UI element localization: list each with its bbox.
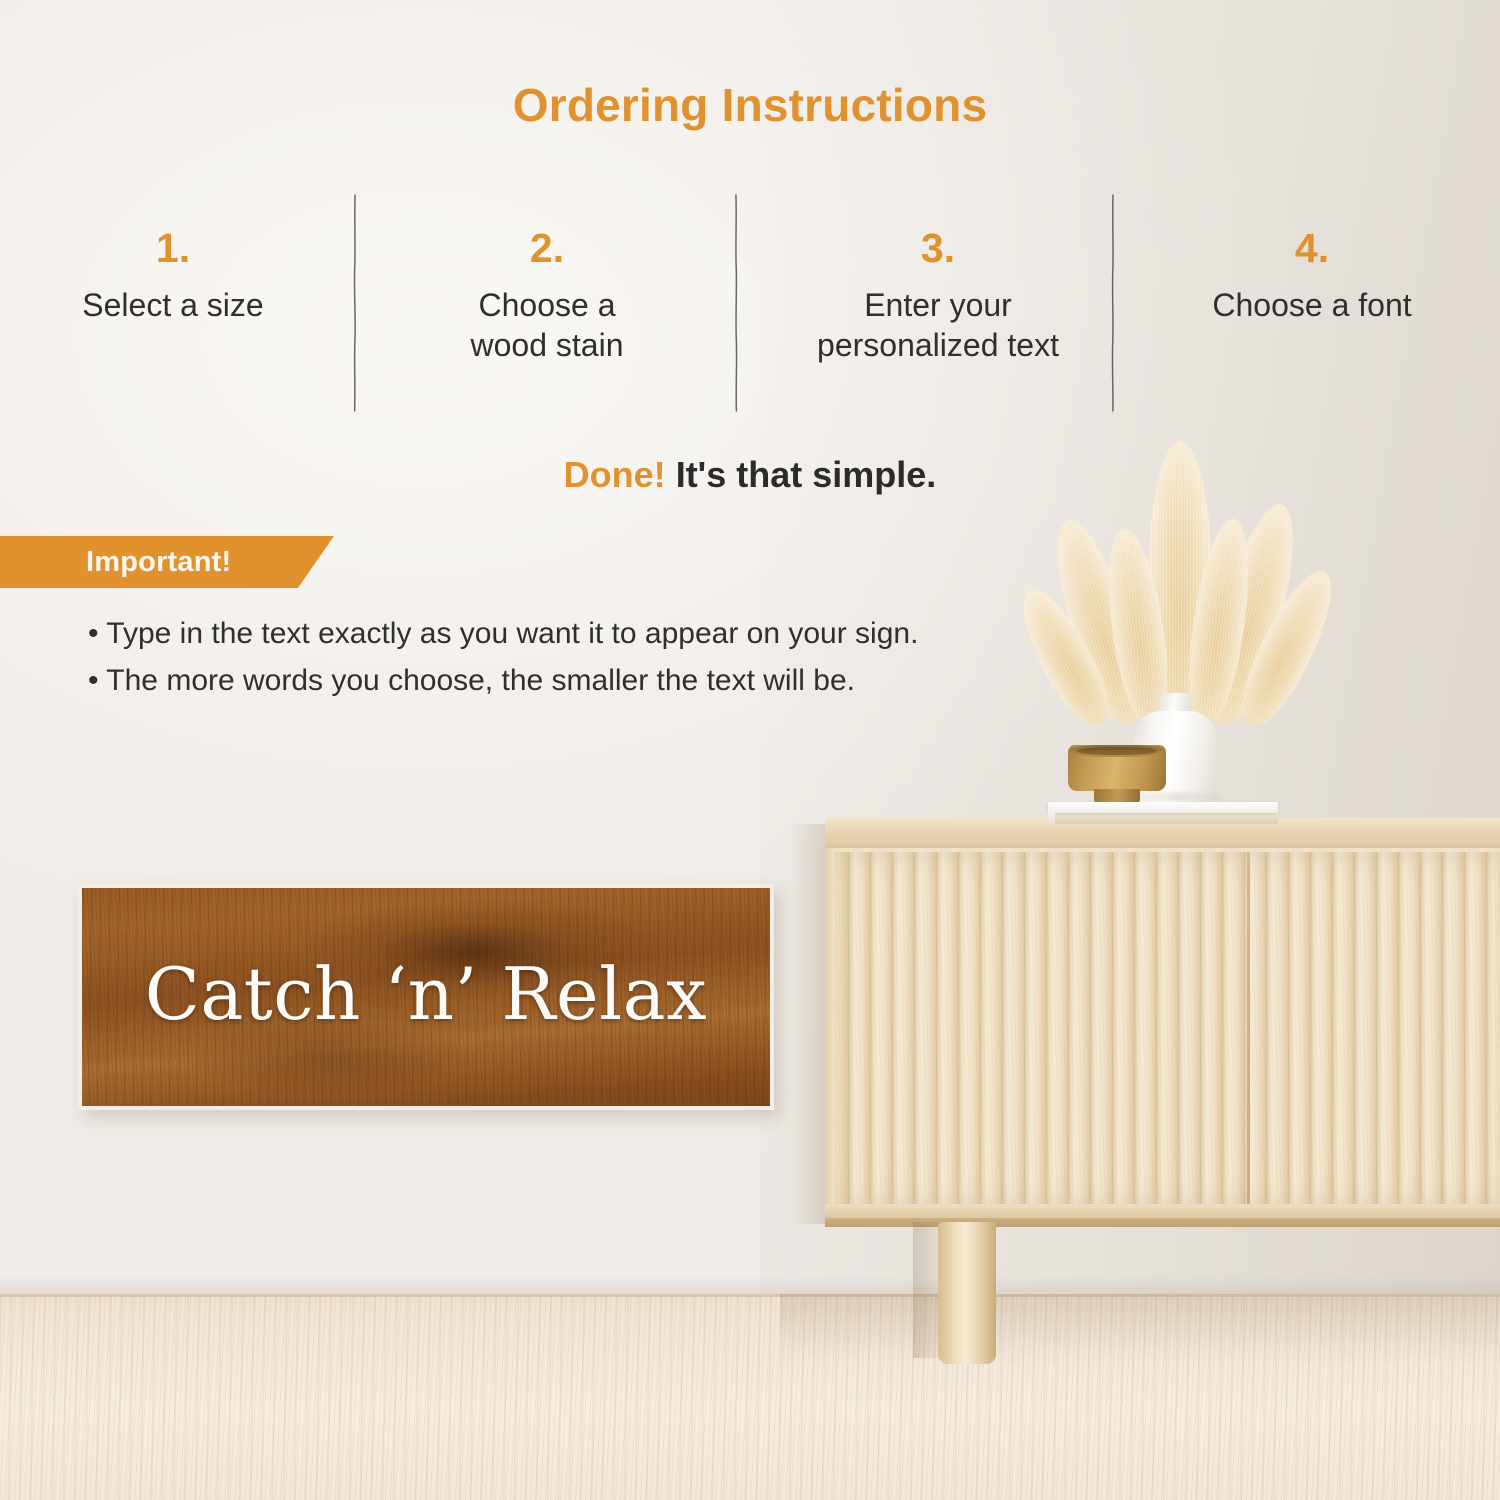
step-item-3: 3. Enter your personalized text — [773, 228, 1103, 366]
note-item: • The more words you choose, the smaller… — [88, 657, 1148, 704]
page-title: Ordering Instructions — [0, 78, 1500, 132]
step-label: Choose a font — [1152, 285, 1472, 325]
steps-row: 1. Select a size 2. Choose a wood stain … — [0, 228, 1500, 418]
wood-sign-product: Catch ‘n’ Relax — [78, 884, 774, 1110]
step-divider-2 — [733, 194, 739, 412]
step-number: 1. — [18, 228, 328, 269]
done-rest: It's that simple. — [676, 454, 937, 495]
important-banner: Important! — [0, 536, 334, 588]
step-item-4: 4. Choose a font — [1152, 228, 1472, 325]
step-number: 3. — [773, 228, 1103, 269]
poster-canvas: Catch ‘n’ Relax Ordering Instructions 1.… — [0, 0, 1500, 1500]
step-item-2: 2. Choose a wood stain — [392, 228, 702, 366]
step-label: Select a size — [18, 285, 328, 325]
step-number: 4. — [1152, 228, 1472, 269]
step-number: 2. — [392, 228, 702, 269]
done-tagline: Done! It's that simple. — [0, 457, 1500, 493]
step-divider-3 — [1110, 194, 1116, 412]
important-notes-list: • Type in the text exactly as you want i… — [88, 610, 1148, 705]
instructions-overlay: Ordering Instructions 1. Select a size 2… — [0, 0, 1500, 1500]
done-highlight: Done! — [564, 454, 666, 495]
step-label: Enter your personalized text — [773, 285, 1103, 366]
sign-engraved-text: Catch ‘n’ Relax — [82, 888, 770, 1106]
step-label: Choose a wood stain — [392, 285, 702, 366]
step-divider-1 — [352, 194, 358, 412]
step-item-1: 1. Select a size — [18, 228, 328, 325]
important-banner-label: Important! — [86, 546, 231, 579]
note-item: • Type in the text exactly as you want i… — [88, 610, 1148, 657]
